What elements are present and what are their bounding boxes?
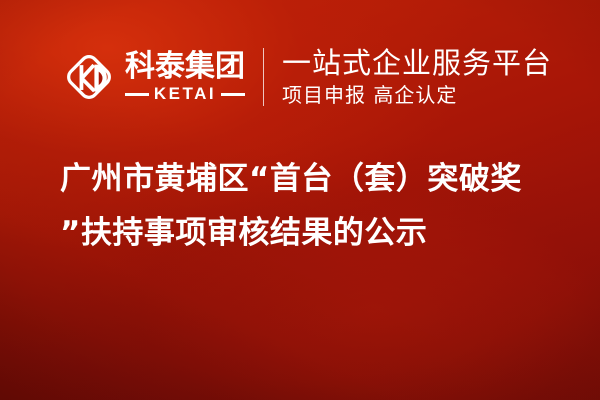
tagline-block: 一站式企业服务平台 项目申报 高企认定	[282, 47, 552, 107]
brand-dash-left	[125, 93, 149, 96]
tagline-sub: 项目申报 高企认定	[282, 83, 552, 107]
tagline-main: 一站式企业服务平台	[282, 47, 552, 80]
brand-name-cn: 科泰集团	[125, 51, 245, 83]
headline-line-1: 广州市黄埔区“首台（套）突破奖	[60, 152, 565, 206]
brand-dash-right	[221, 93, 245, 96]
brand-header: 科泰集团 KETAI 一站式企业服务平台 项目申报 高企认定	[62, 44, 552, 110]
headline-line-2: ”扶持事项审核结果的公示	[60, 206, 565, 260]
headline: 广州市黄埔区“首台（套）突破奖 ”扶持事项审核结果的公示	[60, 152, 565, 260]
brand-name-en-row: KETAI	[125, 85, 245, 103]
brand-name-en: KETAI	[149, 85, 221, 103]
announcement-banner: 科泰集团 KETAI 一站式企业服务平台 项目申报 高企认定 广州市黄埔区“首台…	[0, 0, 600, 400]
brand-wordmark: 科泰集团 KETAI	[125, 51, 245, 103]
brand-divider	[263, 48, 264, 106]
ketai-diamond-kd-logo-icon	[62, 50, 116, 104]
